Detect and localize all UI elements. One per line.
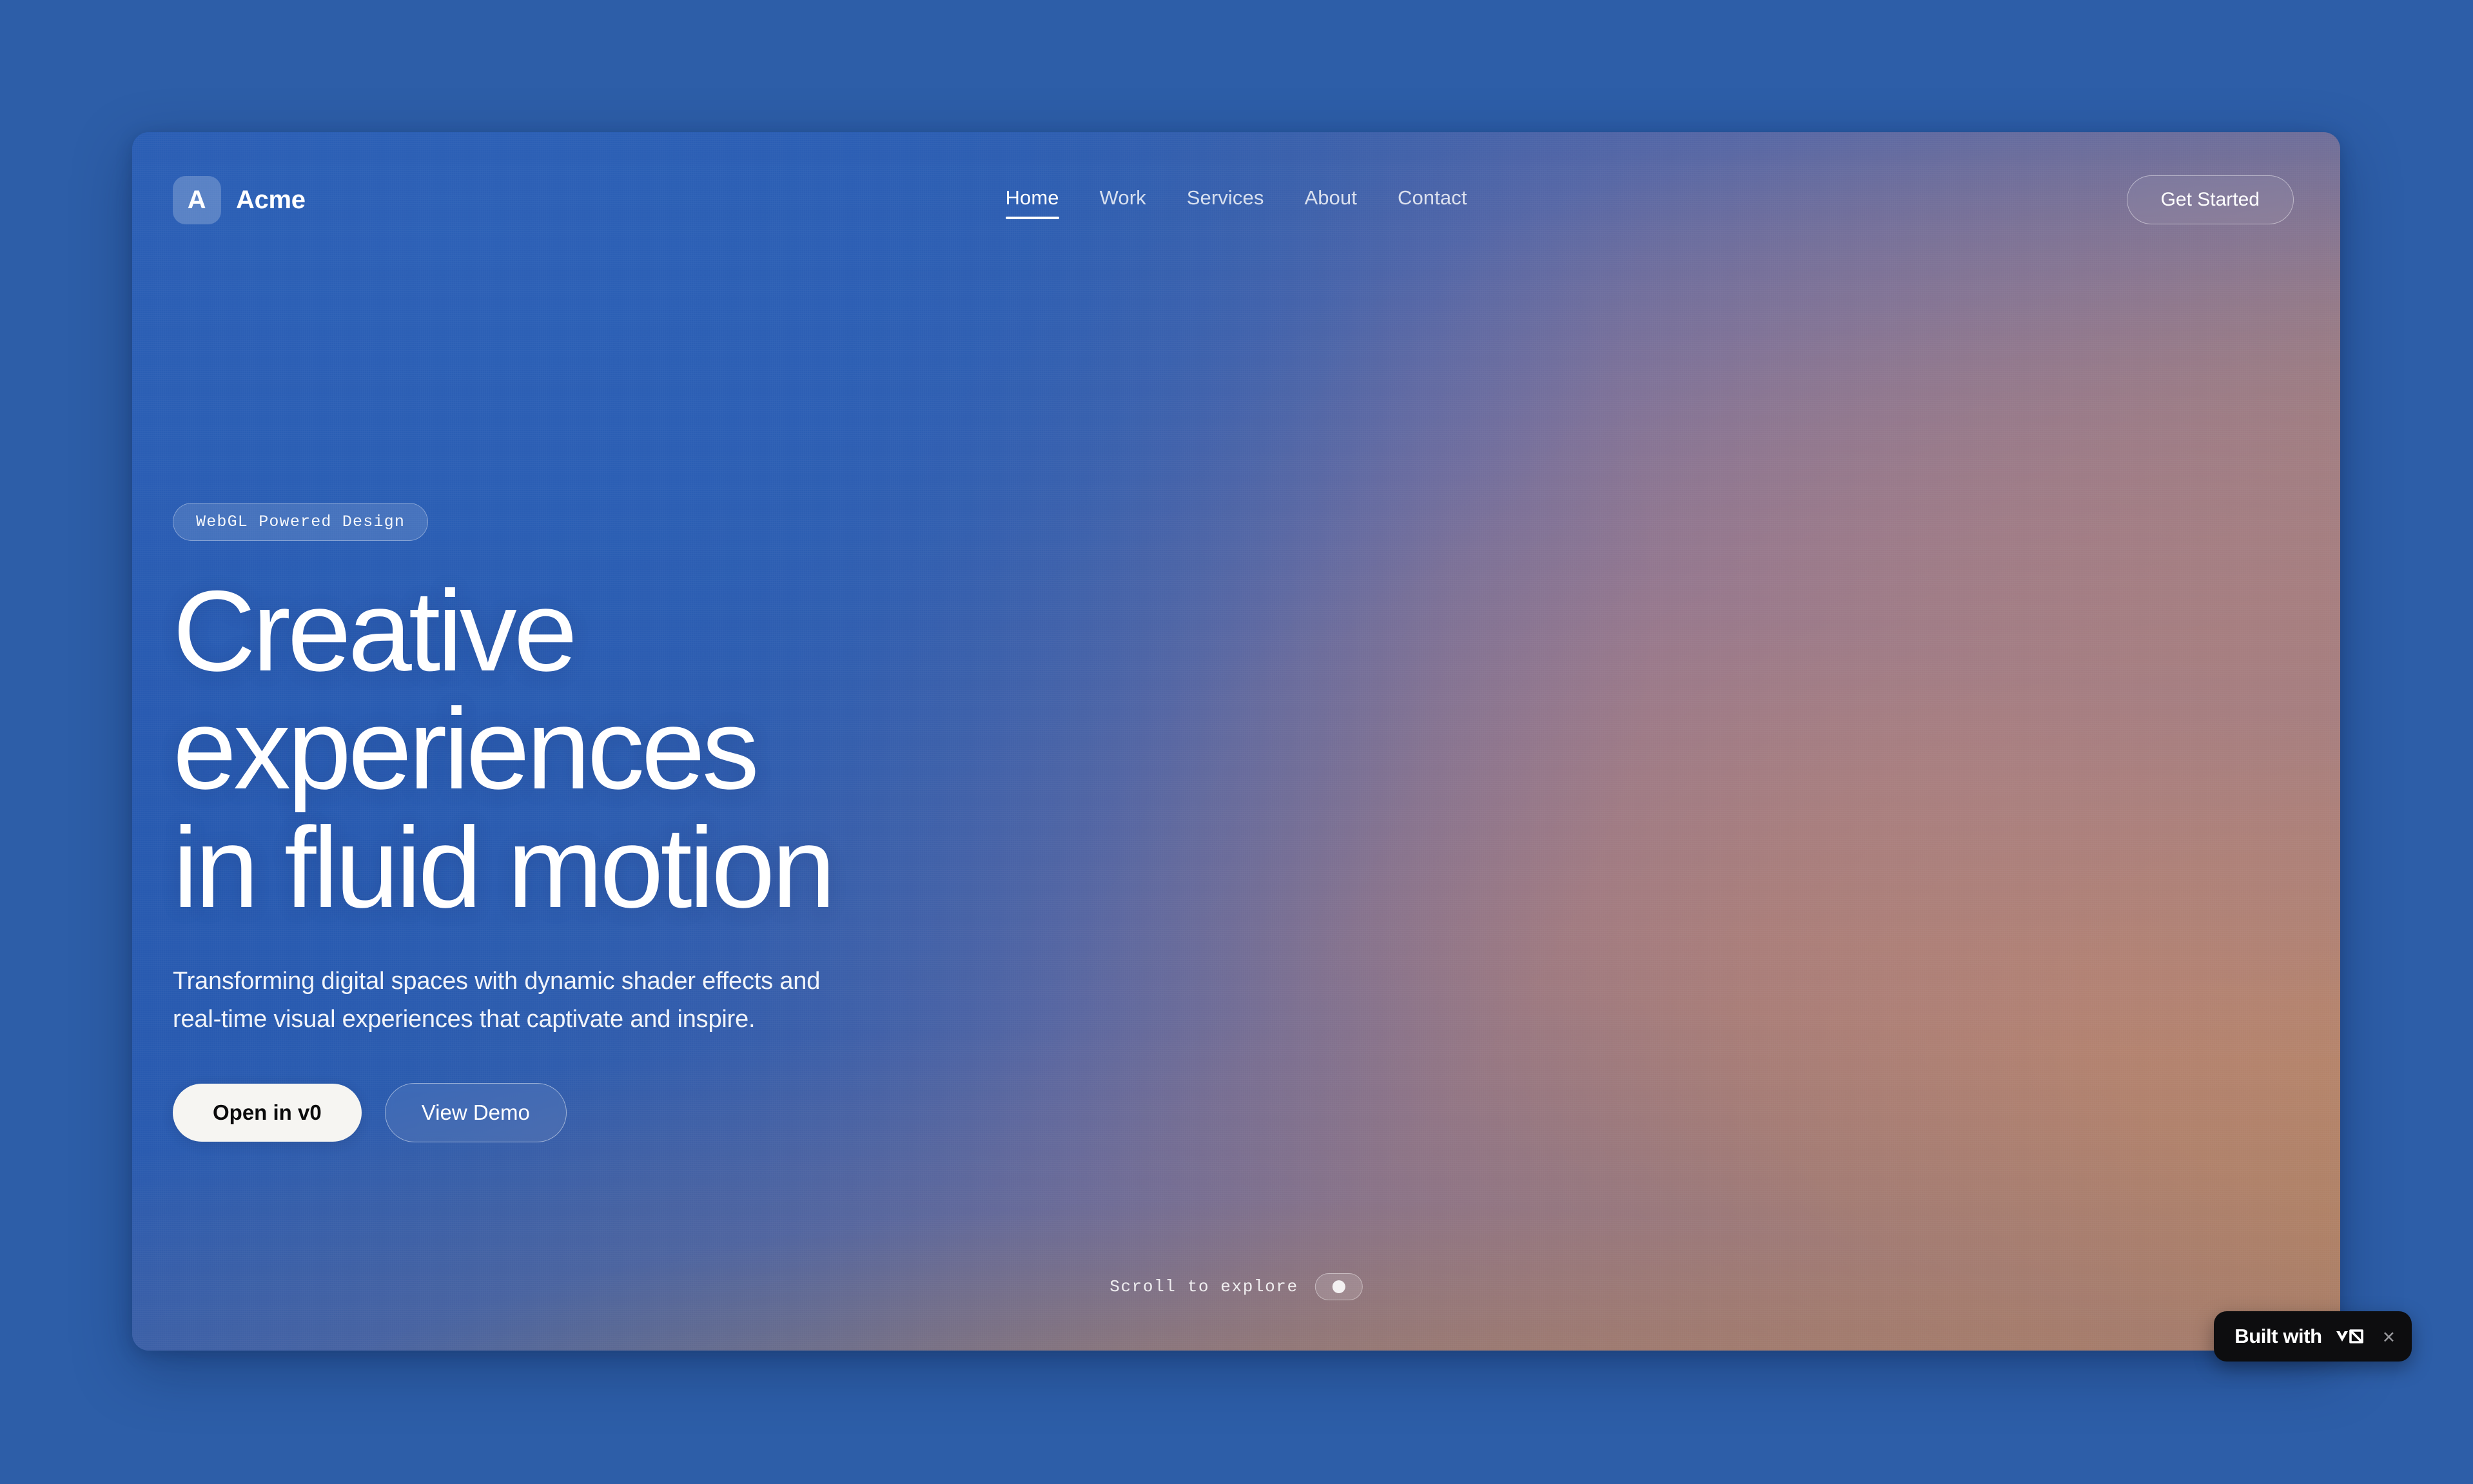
open-in-v0-button[interactable]: Open in v0	[173, 1084, 362, 1142]
nav-item-home[interactable]: Home	[1006, 186, 1059, 213]
hero-title: Creative experiences in fluid motion	[173, 572, 1269, 926]
site-header: A Acme Home Work Services About Contact …	[132, 132, 2340, 268]
nav-item-work[interactable]: Work	[1100, 186, 1146, 213]
scroll-to-explore[interactable]: Scroll to explore	[1109, 1273, 1362, 1300]
hero-title-line-3: in fluid motion	[173, 808, 1269, 926]
hero-title-line-1: Creative	[173, 572, 1269, 690]
hero-card: A Acme Home Work Services About Contact …	[132, 132, 2340, 1351]
brand-logo[interactable]: A Acme	[173, 176, 306, 224]
main-nav: Home Work Services About Contact	[1006, 186, 1467, 213]
hero-subtitle: Transforming digital spaces with dynamic…	[173, 962, 933, 1039]
close-icon[interactable]: ×	[2383, 1326, 2395, 1347]
brand-name: Acme	[236, 186, 306, 215]
scroll-dot-icon	[1333, 1280, 1345, 1293]
get-started-button[interactable]: Get Started	[2127, 175, 2294, 224]
hero-content: WebGL Powered Design Creative experience…	[173, 503, 1269, 1142]
built-with-v0-badge[interactable]: Built with ×	[2214, 1311, 2412, 1362]
built-with-label: Built with	[2234, 1325, 2321, 1348]
hero-badge: WebGL Powered Design	[173, 503, 428, 541]
brand-mark-icon: A	[173, 176, 221, 224]
nav-item-contact[interactable]: Contact	[1398, 186, 1467, 213]
hero-actions: Open in v0 View Demo	[173, 1083, 1269, 1142]
hero-subtitle-line-1: Transforming digital spaces with dynamic…	[173, 962, 933, 1001]
scroll-hint-label: Scroll to explore	[1109, 1277, 1298, 1296]
nav-item-services[interactable]: Services	[1187, 186, 1264, 213]
hero-title-line-2: experiences	[173, 690, 1269, 808]
mouse-capsule-icon	[1315, 1273, 1363, 1300]
nav-item-about[interactable]: About	[1304, 186, 1357, 213]
hero-subtitle-line-2: real-time visual experiences that captiv…	[173, 1001, 933, 1039]
v0-logo-icon	[2335, 1327, 2365, 1346]
view-demo-button[interactable]: View Demo	[385, 1083, 567, 1142]
